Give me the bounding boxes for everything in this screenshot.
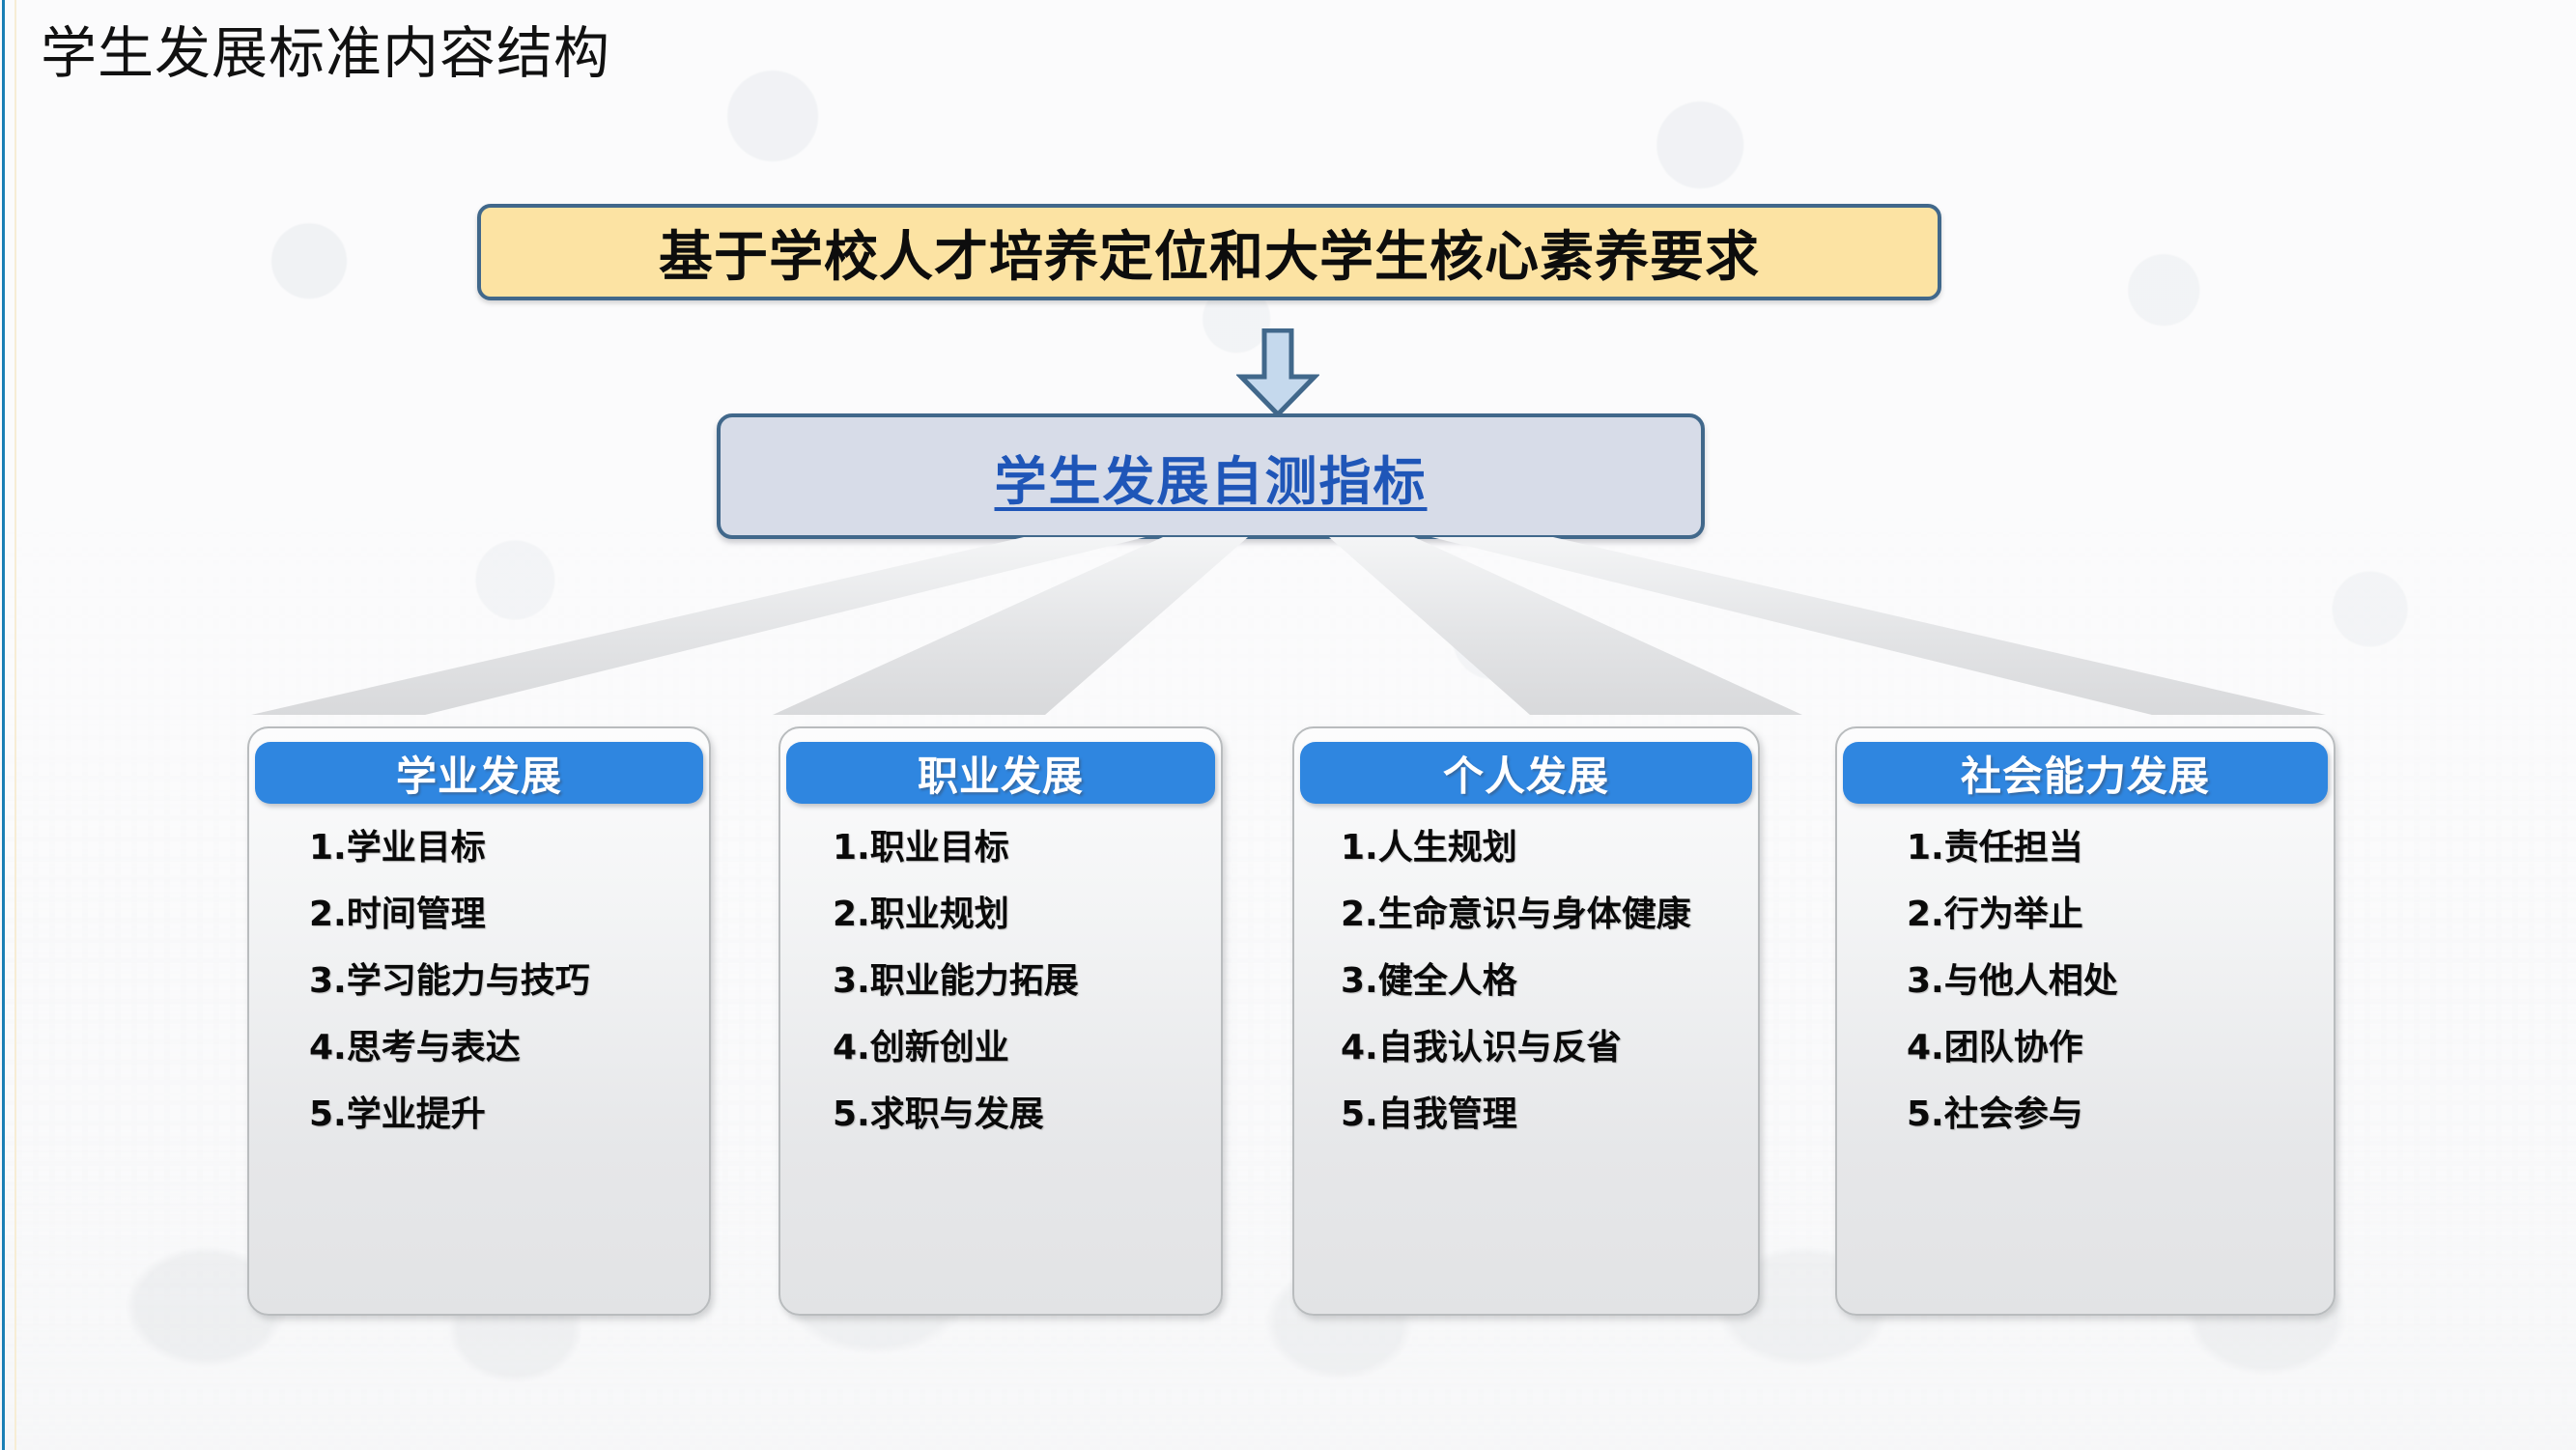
category-card-social[interactable]: 社会能力发展 1.责任担当 2.行为举止 3.与他人相处 4.团队协作 5.社会…	[1835, 726, 2335, 1316]
category-card-header: 个人发展	[1300, 742, 1752, 804]
left-edge-blue-rule	[2, 0, 5, 1450]
fan-branch-4	[1431, 537, 2326, 715]
list-item[interactable]: 3.职业能力拓展	[833, 964, 1207, 999]
arrow-down-icon	[1236, 328, 1319, 417]
page-title: 学生发展标准内容结构	[41, 21, 610, 86]
list-item[interactable]: 5.求职与发展	[833, 1097, 1207, 1132]
slide-canvas: 学生发展标准内容结构 基于学校人才培养定位和大学生核心素养要求 学生发展自测指标	[0, 0, 2576, 1450]
fan-connector	[0, 537, 2576, 730]
category-item-list: 1.职业目标 2.职业规划 3.职业能力拓展 4.创新创业 5.求职与发展	[780, 831, 1221, 1132]
category-card-career[interactable]: 职业发展 1.职业目标 2.职业规划 3.职业能力拓展 4.创新创业 5.求职与…	[778, 726, 1223, 1316]
list-item[interactable]: 4.思考与表达	[309, 1031, 695, 1066]
list-item[interactable]: 5.自我管理	[1341, 1097, 1744, 1132]
fan-branch-1	[251, 537, 1146, 715]
left-edge-cream-rule	[14, 0, 16, 1450]
list-item[interactable]: 2.生命意识与身体健康	[1341, 897, 1744, 932]
category-card-title: 社会能力发展	[1961, 744, 2210, 803]
category-card-header: 社会能力发展	[1843, 742, 2328, 804]
category-card-academic[interactable]: 学业发展 1.学业目标 2.时间管理 3.学习能力与技巧 4.思考与表达 5.学…	[247, 726, 711, 1316]
indicator-banner-text: 学生发展自测指标	[995, 439, 1428, 515]
list-item[interactable]: 5.社会参与	[1907, 1097, 2320, 1132]
list-item[interactable]: 4.创新创业	[833, 1031, 1207, 1066]
fan-branch-2	[773, 537, 1248, 715]
premise-banner: 基于学校人才培养定位和大学生核心素养要求	[477, 204, 1941, 300]
category-card-title: 个人发展	[1443, 744, 1609, 803]
list-item[interactable]: 1.人生规划	[1341, 831, 1744, 866]
category-item-list: 1.责任担当 2.行为举止 3.与他人相处 4.团队协作 5.社会参与	[1837, 831, 2334, 1132]
list-item[interactable]: 4.自我认识与反省	[1341, 1031, 1744, 1066]
list-item[interactable]: 2.时间管理	[309, 897, 695, 932]
list-item[interactable]: 2.行为举止	[1907, 897, 2320, 932]
category-card-title: 学业发展	[396, 744, 562, 803]
category-card-header: 学业发展	[255, 742, 703, 804]
category-item-list: 1.人生规划 2.生命意识与身体健康 3.健全人格 4.自我认识与反省 5.自我…	[1294, 831, 1758, 1132]
category-item-list: 1.学业目标 2.时间管理 3.学习能力与技巧 4.思考与表达 5.学业提升	[249, 831, 709, 1132]
list-item[interactable]: 3.与他人相处	[1907, 964, 2320, 999]
list-item[interactable]: 5.学业提升	[309, 1097, 695, 1132]
premise-banner-text: 基于学校人才培养定位和大学生核心素养要求	[659, 213, 1760, 292]
list-item[interactable]: 1.职业目标	[833, 831, 1207, 866]
list-item[interactable]: 1.学业目标	[309, 831, 695, 866]
list-item[interactable]: 3.学习能力与技巧	[309, 964, 695, 999]
category-card-header: 职业发展	[786, 742, 1215, 804]
indicator-banner[interactable]: 学生发展自测指标	[717, 413, 1705, 539]
list-item[interactable]: 3.健全人格	[1341, 964, 1744, 999]
list-item[interactable]: 2.职业规划	[833, 897, 1207, 932]
fan-branch-3	[1329, 537, 1802, 715]
list-item[interactable]: 1.责任担当	[1907, 831, 2320, 866]
list-item[interactable]: 4.团队协作	[1907, 1031, 2320, 1066]
category-card-personal[interactable]: 个人发展 1.人生规划 2.生命意识与身体健康 3.健全人格 4.自我认识与反省…	[1292, 726, 1760, 1316]
category-card-title: 职业发展	[918, 744, 1084, 803]
